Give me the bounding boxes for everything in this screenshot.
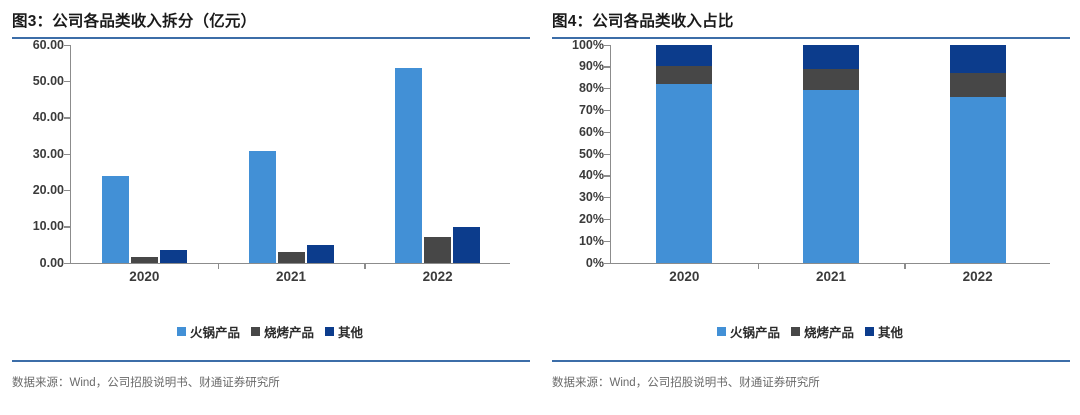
figure3-source: 数据来源：Wind，公司招股说明书、财通证券研究所 <box>12 374 280 390</box>
stack-segment <box>950 45 1006 73</box>
y-tick-mark <box>604 263 610 264</box>
y-tick-label: 90% <box>579 59 604 73</box>
y-tick-mark <box>604 110 610 111</box>
bar-group <box>395 45 480 263</box>
x-category-label: 2022 <box>963 269 993 284</box>
bar-group <box>102 45 187 263</box>
x-tick-mark <box>758 263 759 269</box>
legend-label: 火锅产品 <box>730 322 780 341</box>
y-tick-label: 10% <box>579 234 604 248</box>
legend-swatch-icon <box>717 327 726 336</box>
y-tick-mark <box>604 154 610 155</box>
y-tick-mark <box>64 154 70 155</box>
bar <box>131 257 158 262</box>
x-tick-mark <box>904 263 905 269</box>
figure3-bars <box>71 45 511 263</box>
y-tick-mark <box>64 81 70 82</box>
figure4-plot-area: 0%10%20%30%40%50%60%70%80%90%100% 202020… <box>552 45 1070 295</box>
y-tick-mark <box>64 263 70 264</box>
y-tick-label: 40.00 <box>33 110 64 124</box>
stack-segment <box>950 73 1006 97</box>
legend-label: 烧烤产品 <box>264 322 314 341</box>
legend-swatch-icon <box>791 327 800 336</box>
bar <box>160 250 187 263</box>
y-tick-mark <box>604 219 610 220</box>
y-tick-mark <box>64 190 70 191</box>
figure3-chart: 0.0010.0020.0030.0040.0050.0060.00 20202… <box>12 45 530 295</box>
y-tick-mark <box>604 88 610 89</box>
figure4-chart: 0%10%20%30%40%50%60%70%80%90%100% 202020… <box>552 45 1070 295</box>
y-tick-label: 40% <box>579 168 604 182</box>
x-category-label: 2020 <box>669 269 699 284</box>
stack-segment <box>803 45 859 69</box>
stacked-bar <box>803 45 859 263</box>
legend-item: 其他 <box>325 322 363 341</box>
figure-pair-page: 图3：公司各品类收入拆分（亿元） 0.0010.0020.0030.0040.0… <box>0 0 1080 415</box>
y-tick-label: 20.00 <box>33 183 64 197</box>
figure4-footer-rule <box>552 360 1070 362</box>
y-tick-mark <box>604 66 610 67</box>
y-tick-label: 0% <box>586 256 604 270</box>
stack-segment <box>656 66 712 83</box>
figure4-title-rule <box>552 37 1070 39</box>
figure3-x-axis-line <box>70 263 510 264</box>
y-tick-mark <box>604 241 610 242</box>
bar <box>424 237 451 262</box>
figure4-x-axis-line <box>610 263 1050 264</box>
y-tick-mark <box>64 45 70 46</box>
legend-label: 烧烤产品 <box>804 322 854 341</box>
figure4-title: 图4：公司各品类收入占比 <box>552 0 1070 37</box>
y-tick-mark <box>604 175 610 176</box>
x-category-label: 2021 <box>276 269 306 284</box>
stack-segment <box>656 45 712 67</box>
legend-swatch-icon <box>865 327 874 336</box>
figure3-legend: 火锅产品烧烤产品其他 <box>0 322 540 341</box>
y-tick-label: 60.00 <box>33 38 64 52</box>
x-category-label: 2022 <box>423 269 453 284</box>
figure3-title: 图3：公司各品类收入拆分（亿元） <box>12 0 530 37</box>
stack-segment <box>950 97 1006 263</box>
legend-item: 烧烤产品 <box>791 322 854 341</box>
y-tick-mark <box>604 132 610 133</box>
legend-item: 火锅产品 <box>177 322 240 341</box>
stack-segment <box>803 69 859 91</box>
y-tick-label: 50% <box>579 147 604 161</box>
bar <box>395 68 422 262</box>
stack-segment <box>656 84 712 263</box>
y-tick-label: 30.00 <box>33 147 64 161</box>
x-tick-mark <box>364 263 365 269</box>
y-tick-label: 20% <box>579 212 604 226</box>
y-tick-label: 50.00 <box>33 74 64 88</box>
y-tick-label: 80% <box>579 81 604 95</box>
legend-item: 火锅产品 <box>717 322 780 341</box>
figure3-footer-rule <box>12 360 530 362</box>
y-tick-mark <box>604 45 610 46</box>
y-tick-label: 30% <box>579 190 604 204</box>
figure4-y-axis-labels: 0%10%20%30%40%50%60%70%80%90%100% <box>552 45 610 263</box>
y-tick-label: 70% <box>579 103 604 117</box>
y-tick-label: 100% <box>572 38 604 52</box>
bar <box>453 227 480 262</box>
y-tick-label: 10.00 <box>33 219 64 233</box>
figure3-plot-area: 0.0010.0020.0030.0040.0050.0060.00 20202… <box>12 45 530 295</box>
legend-swatch-icon <box>177 327 186 336</box>
x-category-label: 2021 <box>816 269 846 284</box>
legend-label: 其他 <box>338 322 363 341</box>
legend-item: 烧烤产品 <box>251 322 314 341</box>
figure3-y-axis-labels: 0.0010.0020.0030.0040.0050.0060.00 <box>12 45 70 263</box>
legend-swatch-icon <box>325 327 334 336</box>
legend-label: 火锅产品 <box>190 322 240 341</box>
y-tick-mark <box>64 226 70 227</box>
legend-item: 其他 <box>865 322 903 341</box>
x-tick-mark <box>218 263 219 269</box>
stacked-bar <box>656 45 712 263</box>
x-category-label: 2020 <box>129 269 159 284</box>
figure3-title-rule <box>12 37 530 39</box>
bar <box>307 245 334 262</box>
figure4-legend: 火锅产品烧烤产品其他 <box>540 322 1080 341</box>
figure4-bars <box>611 45 1051 263</box>
stacked-bar <box>950 45 1006 263</box>
bar <box>102 176 129 262</box>
bar <box>278 252 305 262</box>
bar-group <box>249 45 334 263</box>
legend-label: 其他 <box>878 322 903 341</box>
y-tick-label: 60% <box>579 125 604 139</box>
stack-segment <box>803 90 859 262</box>
figure4-source: 数据来源：Wind，公司招股说明书、财通证券研究所 <box>552 374 820 390</box>
y-tick-mark <box>604 197 610 198</box>
figure-panel-left: 图3：公司各品类收入拆分（亿元） 0.0010.0020.0030.0040.0… <box>0 0 540 415</box>
legend-swatch-icon <box>251 327 260 336</box>
y-tick-label: 0.00 <box>40 256 64 270</box>
figure-panel-right: 图4：公司各品类收入占比 0%10%20%30%40%50%60%70%80%9… <box>540 0 1080 415</box>
bar <box>249 151 276 263</box>
y-tick-mark <box>64 117 70 118</box>
